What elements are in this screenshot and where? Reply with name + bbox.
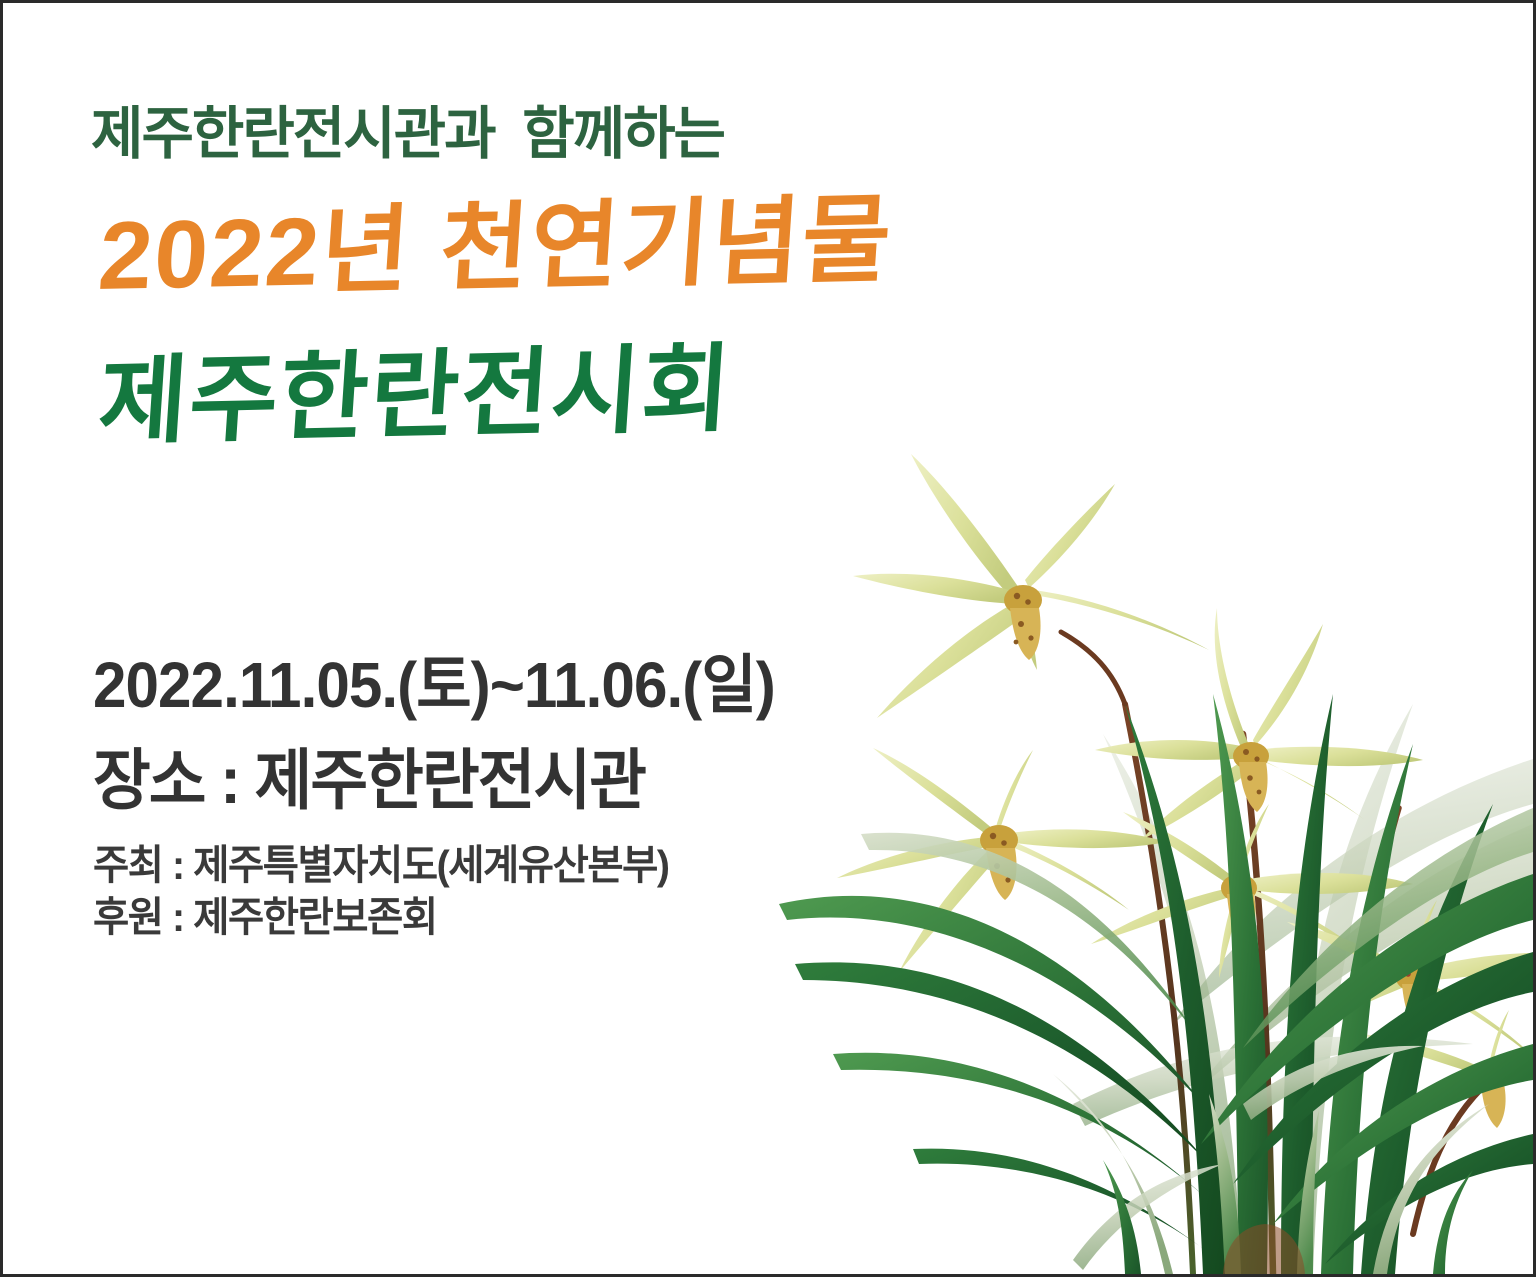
event-host: 주최 : 제주특별자치도(세계유산본부)	[93, 845, 669, 886]
orchid-plant-illustration	[773, 404, 1533, 1274]
poster-title-line1: 2022년 천연기념물	[96, 192, 896, 305]
orchid-flower	[853, 454, 1209, 718]
poster-title-line2: 제주한란전시회	[96, 342, 736, 451]
poster-kicker: 제주한란전시관과 함께하는	[91, 106, 724, 163]
leaf-group-front	[779, 694, 1533, 1274]
event-sponsor: 후원 : 제주한란보존회	[93, 897, 437, 938]
event-date: 2022.11.05.(토)~11.06.(일)	[93, 653, 775, 717]
poster-canvas: 제주한란전시관과 함께하는 2022년 천연기념물 제주한란전시회 2022.1…	[0, 0, 1536, 1277]
event-venue: 장소 : 제주한란전시관	[93, 747, 645, 813]
